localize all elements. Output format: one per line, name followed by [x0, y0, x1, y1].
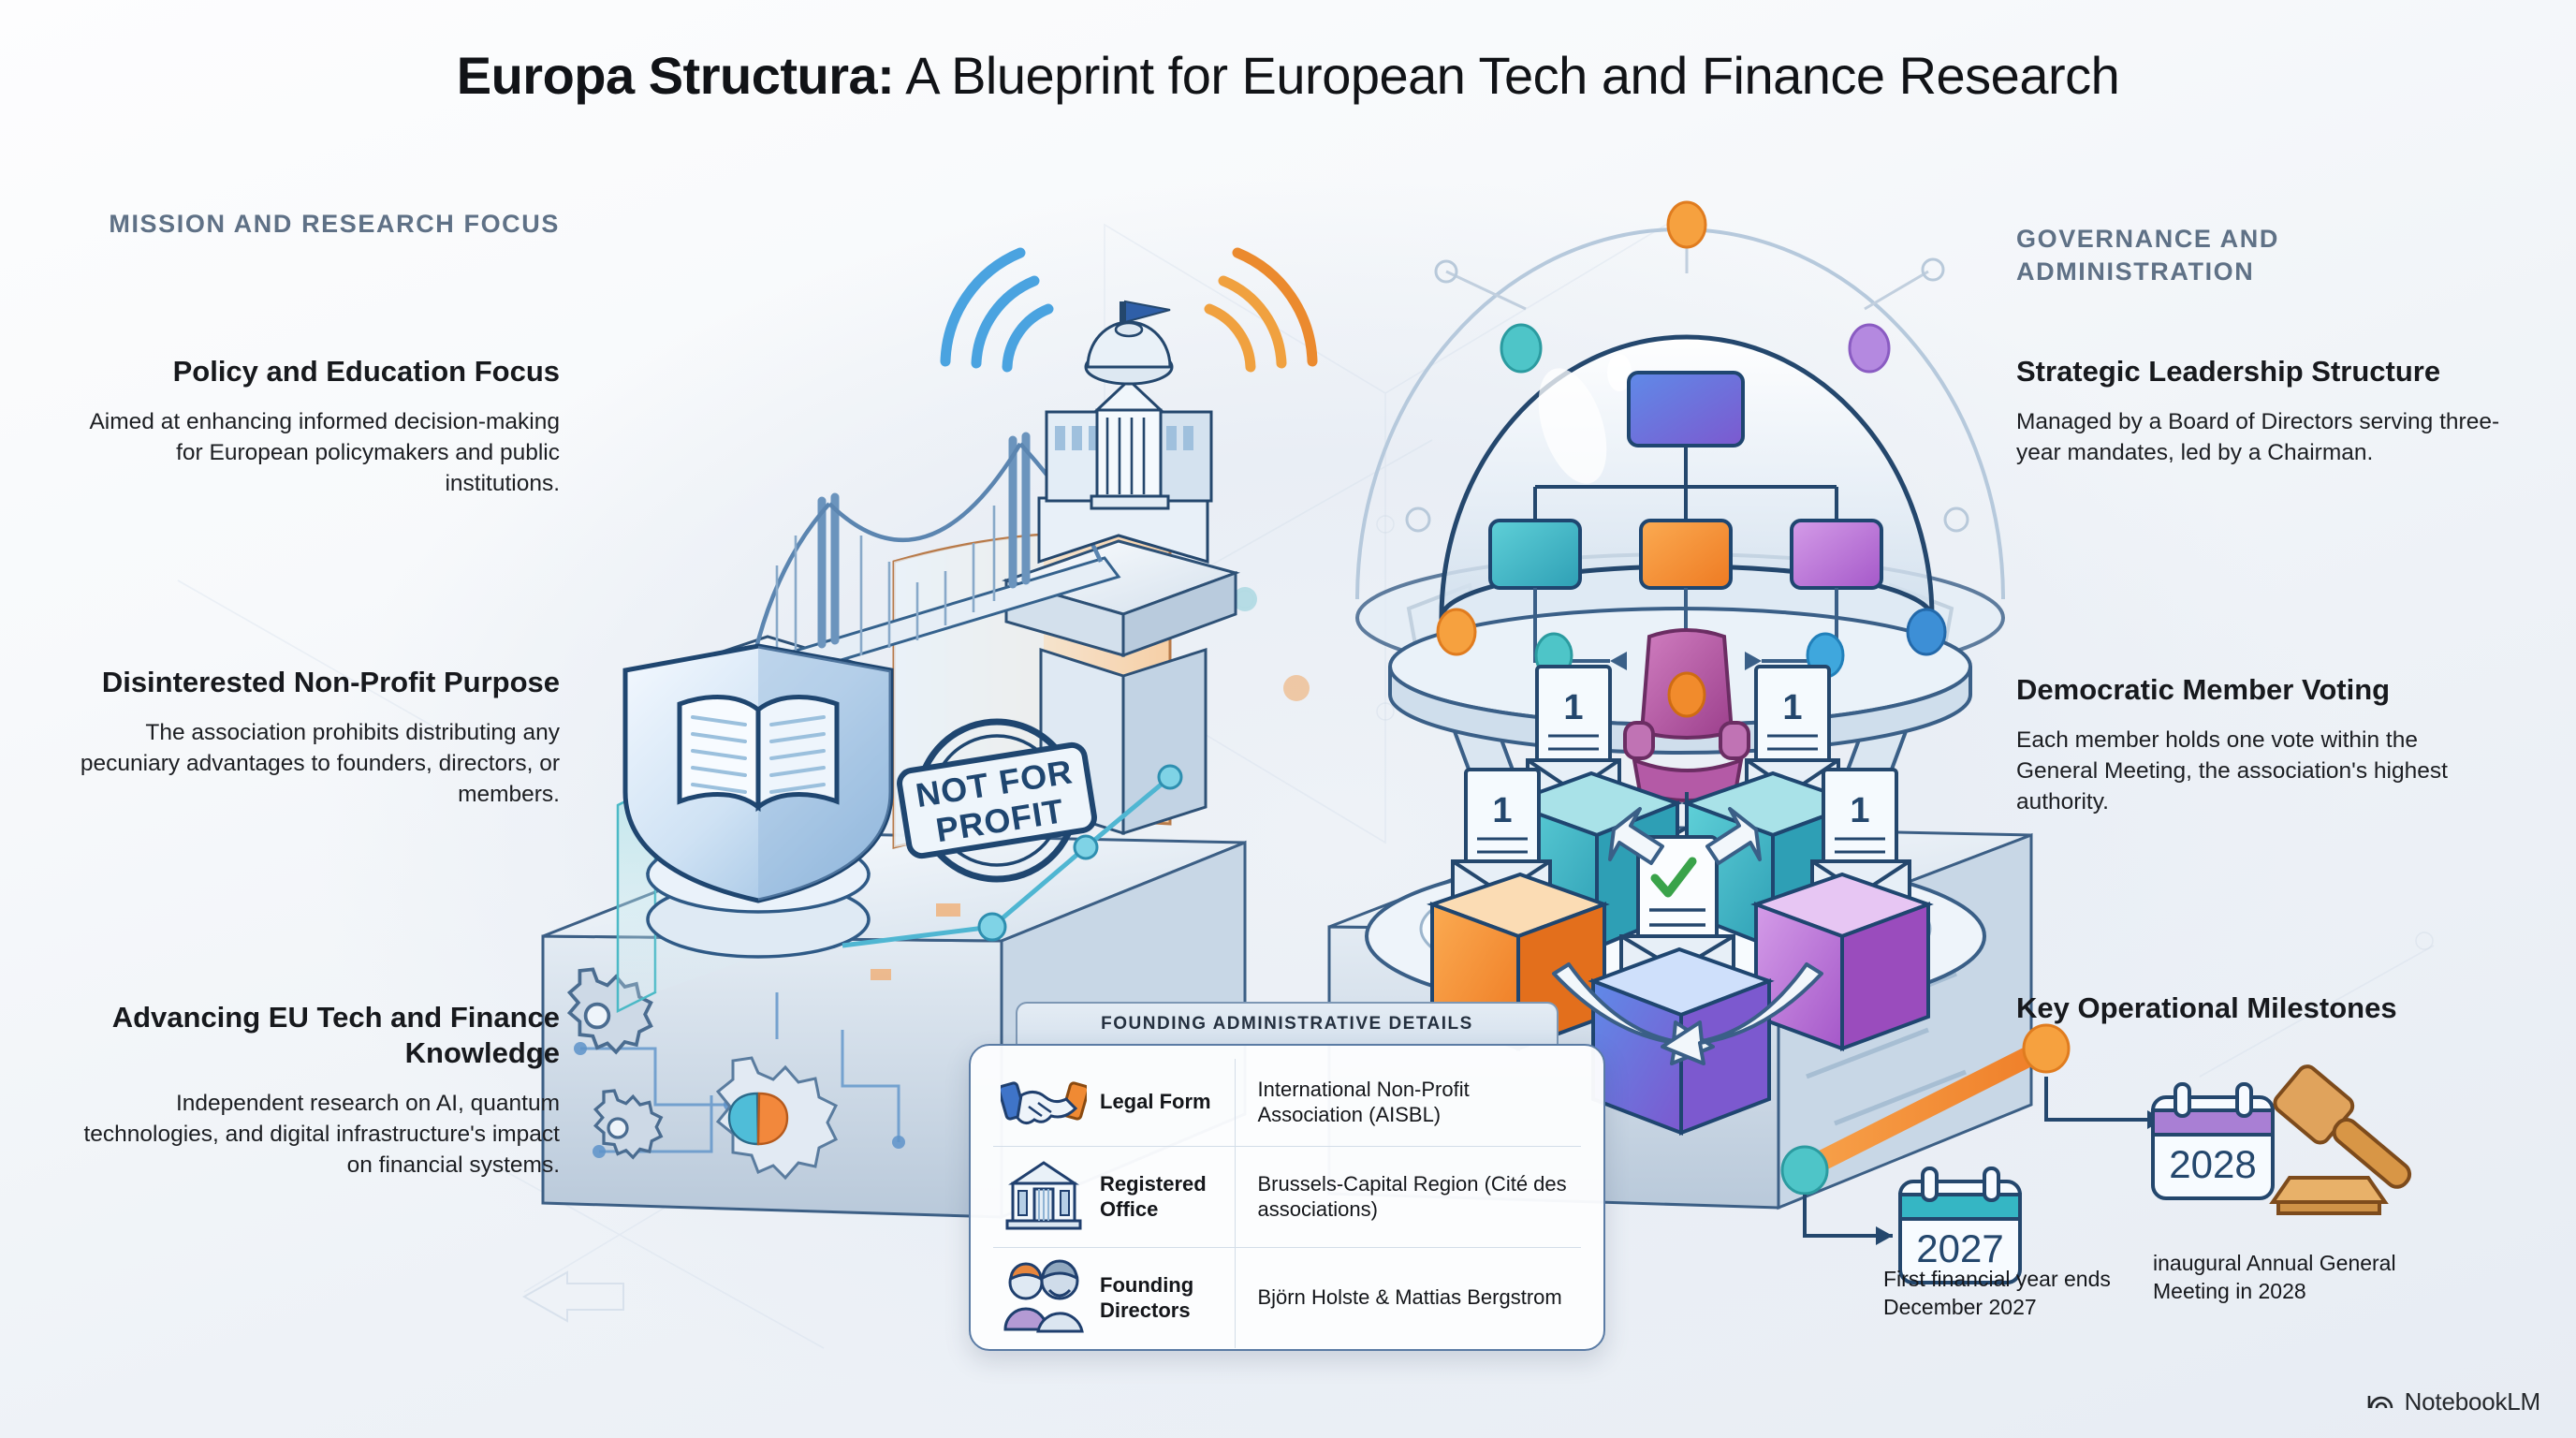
svg-text:1: 1	[1782, 688, 1802, 727]
table-row: Registered Office Brussels-Capital Regio…	[993, 1147, 1581, 1248]
block-body: The association prohibits distributing a…	[73, 717, 560, 811]
two-people-icon	[993, 1248, 1094, 1349]
block-heading: Disinterested Non-Profit Purpose	[73, 665, 560, 700]
row-label: Founding Directors	[1094, 1248, 1235, 1349]
table-row: Legal Form International Non-Profit Asso…	[993, 1059, 1581, 1147]
block-advancing-eu-tech: Advancing EU Tech and Finance Knowledge …	[73, 1000, 560, 1181]
watermark-label: NotebookLM	[2405, 1387, 2540, 1416]
block-strategic-leadership: Strategic Leadership Structure Managed b…	[2016, 354, 2503, 468]
calendar-icon-2028: 2028	[2153, 1084, 2273, 1198]
milestone-caption-2027: First financial year ends December 2027	[1883, 1266, 2136, 1322]
founding-details-card: Legal Form International Non-Profit Asso…	[969, 1044, 1605, 1351]
svg-text:1: 1	[1492, 791, 1512, 830]
block-heading: Key Operational Milestones	[2016, 990, 2503, 1026]
mission-section-heading: MISSION AND RESEARCH FOCUS	[73, 208, 560, 241]
block-body: Aimed at enhancing informed decision-mak…	[73, 406, 560, 500]
milestone-caption-2028: inaugural Annual General Meeting in 2028	[2153, 1250, 2462, 1306]
notebooklm-logo-icon	[2367, 1387, 2395, 1417]
row-value: Björn Holste & Mattias Bergstrom	[1235, 1248, 1581, 1349]
block-heading: Strategic Leadership Structure	[2016, 354, 2503, 389]
shield-book-icon	[625, 646, 891, 957]
block-body: Each member holds one vote within the Ge…	[2016, 725, 2503, 818]
governance-dome	[1357, 202, 2003, 872]
block-non-profit-purpose: Disinterested Non-Profit Purpose The ass…	[73, 665, 560, 811]
row-value: International Non-Profit Association (AI…	[1235, 1059, 1581, 1147]
svg-text:2027: 2027	[1916, 1226, 2003, 1270]
block-policy-education-focus: Policy and Education Focus Aimed at enha…	[73, 354, 560, 500]
table-row: Founding Directors Björn Holste & Mattia…	[993, 1248, 1581, 1349]
block-heading: Policy and Education Focus	[73, 354, 560, 389]
block-key-milestones: Key Operational Milestones	[2016, 990, 2503, 1026]
svg-text:1: 1	[1563, 688, 1583, 727]
handshake-icon	[993, 1059, 1094, 1147]
block-heading: Advancing EU Tech and Finance Knowledge	[73, 1000, 560, 1071]
row-value: Brussels-Capital Region (Cité des associ…	[1235, 1147, 1581, 1248]
row-label: Registered Office	[1094, 1147, 1235, 1248]
block-body: Managed by a Board of Directors serving …	[2016, 406, 2503, 469]
svg-text:2028: 2028	[2169, 1142, 2256, 1186]
institution-icon	[993, 1147, 1094, 1248]
block-body: Independent research on AI, quantum tech…	[73, 1088, 560, 1181]
governance-section-heading: GOVERNANCE AND ADMINISTRATION	[2016, 223, 2503, 287]
details-card-tab: FOUNDING ADMINISTRATIVE DETAILS	[1016, 1002, 1559, 1045]
block-democratic-voting: Democratic Member Voting Each member hol…	[2016, 672, 2503, 818]
row-label: Legal Form	[1094, 1059, 1235, 1147]
watermark: NotebookLM	[2367, 1387, 2540, 1417]
details-card-tab-label: FOUNDING ADMINISTRATIVE DETAILS	[1101, 1014, 1473, 1034]
gavel-icon	[2271, 1063, 2423, 1213]
block-heading: Democratic Member Voting	[2016, 672, 2503, 708]
svg-text:1: 1	[1850, 791, 1869, 830]
capitol-icon	[1039, 301, 1211, 562]
